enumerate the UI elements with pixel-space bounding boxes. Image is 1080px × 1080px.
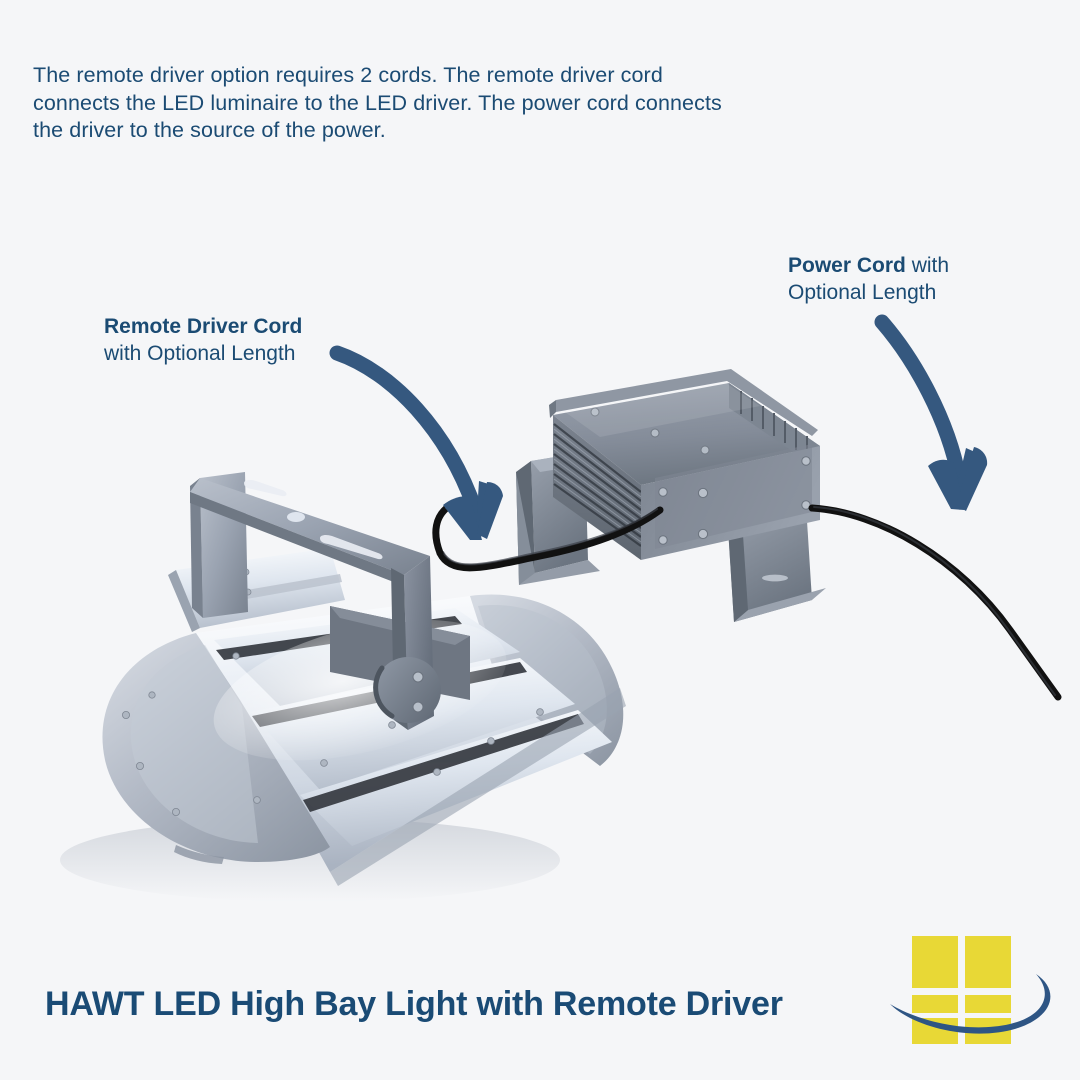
curved-arrow-down-icon: [882, 322, 987, 511]
callout-remote-driver-cord: Remote Driver Cord with Optional Length: [104, 313, 404, 367]
callout-arrows: [0, 0, 1080, 1080]
brand-logo: [888, 920, 1068, 1050]
curved-arrow-down-right-icon: [337, 353, 503, 540]
callout-power-cord-title: Power Cord: [788, 254, 906, 277]
diagram-canvas: The remote driver option requires 2 cord…: [0, 0, 1080, 1080]
callout-power-cord: Power Cord with Optional Length: [788, 252, 998, 306]
callout-remote-driver-cord-subtitle: with Optional Length: [104, 342, 295, 365]
page-title: HAWT LED High Bay Light with Remote Driv…: [45, 985, 783, 1024]
callout-remote-driver-cord-title: Remote Driver Cord: [104, 315, 302, 338]
